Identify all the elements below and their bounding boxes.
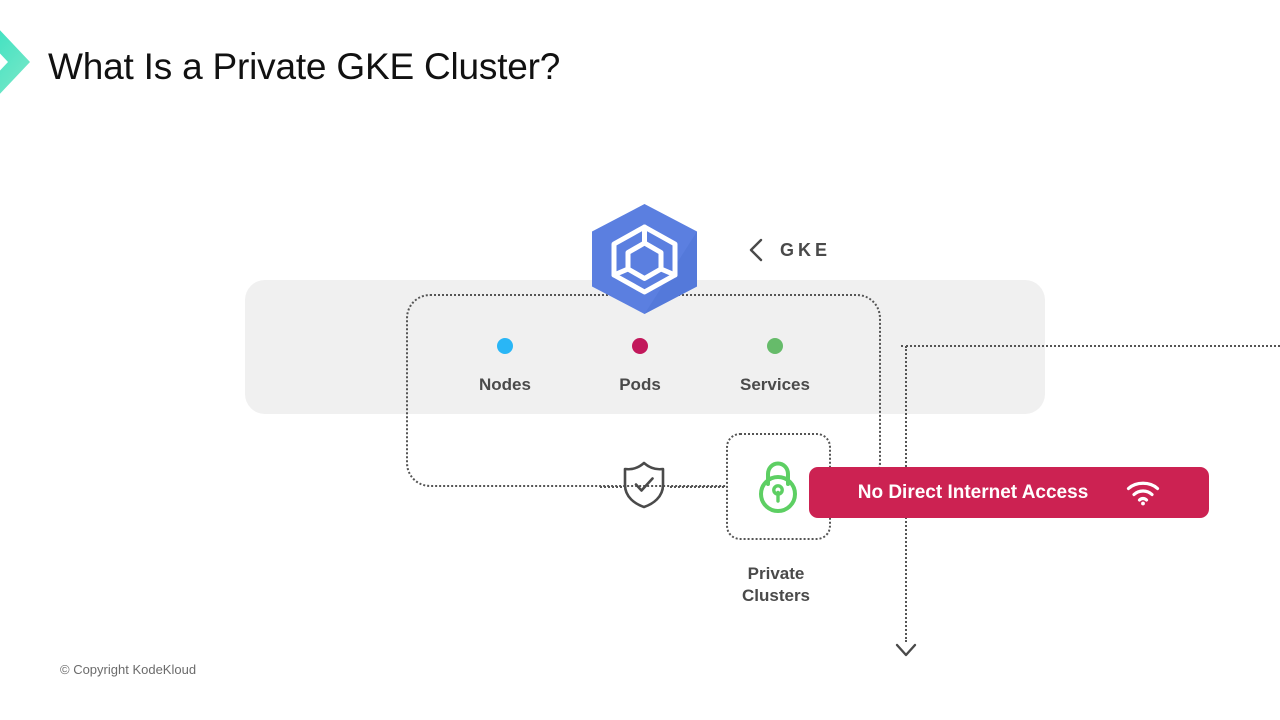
shield-check-icon <box>622 460 666 510</box>
chevron-left-icon <box>748 238 764 262</box>
resource-list: Nodes Pods Services <box>440 338 840 395</box>
resource-label-nodes: Nodes <box>479 375 531 395</box>
badge-label: No Direct Internet Access <box>858 482 1089 504</box>
wifi-icon <box>1126 480 1160 506</box>
resource-item-nodes: Nodes <box>440 338 570 395</box>
resource-label-services: Services <box>740 375 810 395</box>
crimson-dot-icon <box>632 338 648 354</box>
chevron-down-icon <box>895 642 917 658</box>
connector-shield-left <box>600 486 622 488</box>
connector-horizontal-line <box>901 345 1280 347</box>
slide-root: What Is a Private GKE Cluster? <box>0 0 1280 720</box>
resource-item-services: Services <box>710 338 840 395</box>
green-dot-icon <box>767 338 783 354</box>
private-cluster-label-line1: Private <box>696 563 856 585</box>
footer-copyright: © Copyright KodeKloud <box>60 662 196 677</box>
gke-hexagon-cube-icon <box>586 203 703 315</box>
resource-label-pods: Pods <box>619 375 661 395</box>
diagram-canvas: GKE Nodes Pods Services <box>0 0 1280 720</box>
private-cluster-label: Private Clusters <box>696 563 856 607</box>
connector-shield-right <box>670 486 728 488</box>
gke-label: GKE <box>780 240 831 261</box>
no-internet-access-badge[interactable]: No Direct Internet Access <box>809 467 1209 518</box>
private-cluster-label-line2: Clusters <box>696 585 856 607</box>
blue-dot-icon <box>497 338 513 354</box>
resource-item-pods: Pods <box>575 338 705 395</box>
padlock-icon <box>755 458 801 516</box>
gke-label-group: GKE <box>748 238 831 262</box>
